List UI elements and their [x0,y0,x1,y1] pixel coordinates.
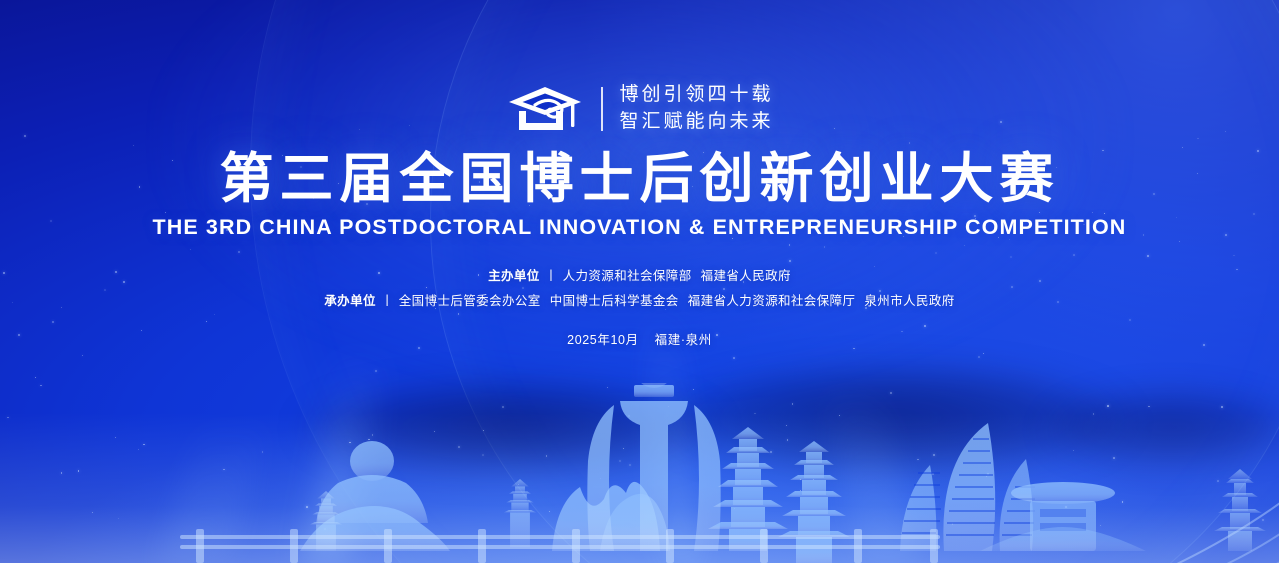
nebula-cloud-right [1040,392,1279,470]
diagonal-light-streaks [899,323,1279,563]
sail-tower-shapes [900,423,1033,551]
event-location: 福建·泉州 [655,333,712,347]
host-organizer-separator: 丨 [540,269,563,283]
central-monument-shape [587,383,720,551]
organizer-block: 主办单位丨人力资源和社会保障部福建省人民政府 承办单位丨全国博士后管委会办公室中… [0,264,1279,313]
page-title-english: THE 3RD CHINA POSTDOCTORAL INNOVATION & … [0,215,1279,240]
poster-canvas: 博创引领四十载 智汇赋能向未来 第三届全国博士后创新创业大赛 THE 3RD C… [0,0,1279,563]
graduation-cap-icon [505,85,585,133]
twin-pagodas-shape [708,427,850,563]
event-date-location-line: 2025年10月福建·泉州 [0,329,1279,348]
host-organizer-line: 主办单位丨人力资源和社会保障部福建省人民政府 [0,264,1279,288]
logo-slogan-divider [601,87,603,131]
cohost-organizer-line: 承办单位丨全国博士后管委会办公室中国博士后科学基金会福建省人力资源和社会保障厅泉… [0,289,1279,313]
light-beam-far-left [158,413,271,563]
host-organizer-item: 人力资源和社会保障部 [563,269,692,283]
cohost-organizer-separator: 丨 [376,294,399,308]
nebula-cloud-center [660,368,1130,478]
light-beam-right [821,383,919,563]
sail-tower-striping [902,439,1035,535]
event-date: 2025年10月 [567,333,639,347]
small-pagoda-right-shape [1214,469,1266,551]
host-organizer-label: 主办单位 [488,269,540,283]
cohost-organizer-item: 泉州市人民政府 [864,294,954,308]
laozi-statue-shape [300,441,450,551]
fence-railing-shape [180,529,940,563]
slogan-text: 博创引领四十载 智汇赋能向未来 [619,82,773,136]
left-stone-lantern-shapes [310,479,536,551]
city-skyline-silhouette [0,383,1279,563]
logo-slogan-row: 博创引领四十载 智汇赋能向未来 [0,0,1279,136]
poster-content: 博创引领四十载 智汇赋能向未来 第三届全国博士后创新创业大赛 THE 3RD C… [0,0,1279,348]
cohost-organizer-label: 承办单位 [324,294,376,308]
host-organizer-item: 福建省人民政府 [701,269,791,283]
light-beam-left [303,353,382,563]
slogan-line-1: 博创引领四十载 [619,84,773,105]
cohost-organizer-item: 全国博士后管委会办公室 [399,294,541,308]
cohost-organizer-item: 中国博士后科学基金会 [550,294,679,308]
stadium-dome-shape [980,482,1146,551]
horizon-haze [0,413,1279,563]
slogan-line-2: 智汇赋能向未来 [619,111,773,132]
rock-formation-shape [552,482,670,551]
nebula-cloud-left [300,384,720,476]
cohost-organizer-item: 福建省人力资源和社会保障厅 [688,294,856,308]
page-title-chinese: 第三届全国博士后创新创业大赛 [0,150,1279,208]
